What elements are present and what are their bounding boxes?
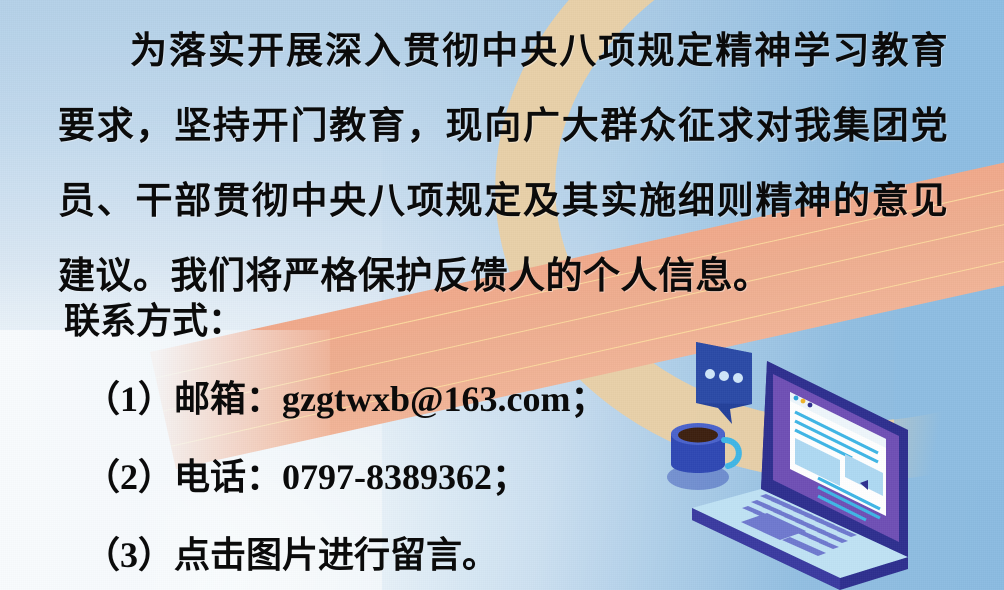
contact-heading: 联系方式： (64, 303, 244, 339)
poster-copy: 为落实开展深入贯彻中央八项规定精神学习教育要求，坚持开门教育，现向广大群众征求对… (0, 0, 960, 314)
laptop-desk-illustration[interactable] (640, 330, 1004, 590)
contact-item-phone[interactable]: （2）电话：0797-8389362； (84, 459, 528, 495)
chat-bubble-icon (696, 342, 752, 424)
body-paragraph: 为落实开展深入贯彻中央八项规定精神学习教育要求，坚持开门教育，现向广大群众征求对… (58, 14, 948, 314)
contact-item-message[interactable]: （3）点击图片进行留言。 (84, 537, 498, 573)
poster-canvas: 为落实开展深入贯彻中央八项规定精神学习教育要求，坚持开门教育，现向广大群众征求对… (0, 0, 1004, 590)
coffee-mug-icon (667, 423, 739, 490)
contact-item-email[interactable]: （1）邮箱：gzgtwxb@163.com； (84, 381, 606, 417)
